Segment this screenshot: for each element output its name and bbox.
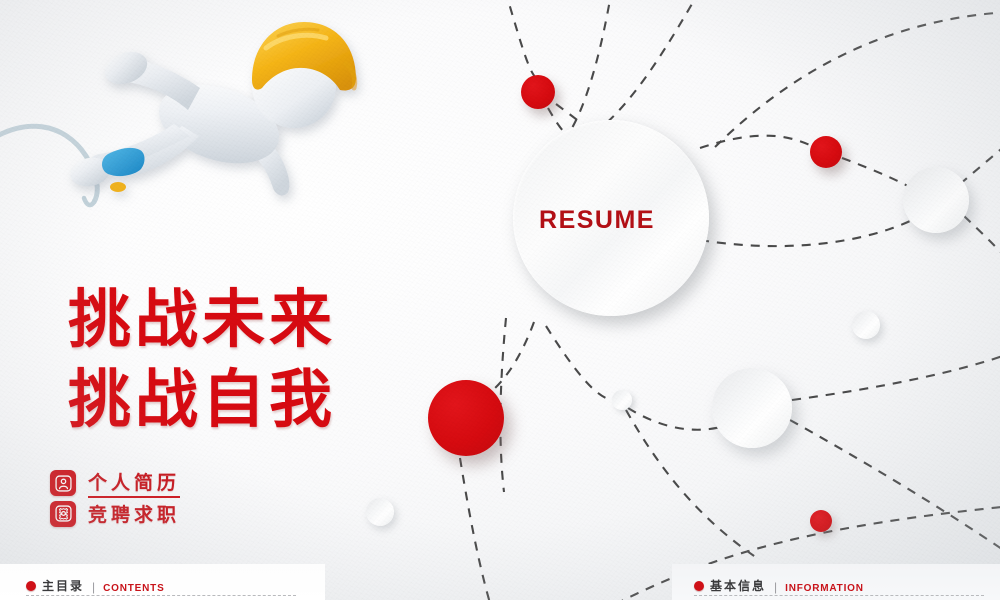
- subtitle-row-resume[interactable]: 个人简历: [50, 468, 180, 498]
- footer-title-cn-left: 主目录: [42, 577, 84, 594]
- resume-badge[interactable]: RESUME: [513, 120, 709, 316]
- headline-line-1: 挑战未来: [68, 288, 336, 351]
- red-dot-icon: [26, 581, 36, 591]
- white-node-lower-right: [712, 368, 792, 448]
- red-node-large-left: [428, 380, 504, 456]
- footer-rule-right: [694, 595, 984, 596]
- footer-separator-left: |: [92, 580, 95, 594]
- slide-canvas: 挑战未来 挑战自我 个人简历 竞聘求职 RESUME: [0, 0, 1000, 600]
- red-node-right: [810, 136, 842, 168]
- subtitle-row-job[interactable]: 竞聘求职: [50, 500, 180, 527]
- subtitle-label-job: 竞聘求职: [88, 500, 180, 527]
- footer-bar: 主目录 | CONTENTS 基本信息 | INFORMATION: [0, 564, 1000, 600]
- footer-item-information[interactable]: 基本信息 | INFORMATION: [694, 577, 864, 594]
- red-dot-icon: [694, 581, 704, 591]
- red-node-top: [521, 75, 555, 109]
- white-node-upper-right: [903, 167, 969, 233]
- gear-icon: [50, 501, 76, 527]
- red-node-small-bottom: [810, 510, 832, 532]
- footer-rule-left: [26, 595, 296, 596]
- subtitle-label-resume: 个人简历: [88, 468, 180, 498]
- white-node-tiny-right: [852, 311, 880, 339]
- resume-badge-label: RESUME: [539, 206, 655, 235]
- hero-figure: [0, 0, 394, 236]
- footer-item-contents[interactable]: 主目录 | CONTENTS: [26, 577, 165, 594]
- footer-title-en-left: CONTENTS: [103, 583, 164, 594]
- white-node-bottom-left: [366, 498, 394, 526]
- user-icon: [50, 470, 76, 496]
- footer-separator-right: |: [774, 580, 777, 594]
- headline-line-2: 挑战自我: [68, 368, 336, 431]
- footer-title-cn-right: 基本信息: [710, 577, 766, 594]
- white-node-tiny-mid: [612, 390, 632, 410]
- footer-title-en-right: INFORMATION: [785, 583, 864, 594]
